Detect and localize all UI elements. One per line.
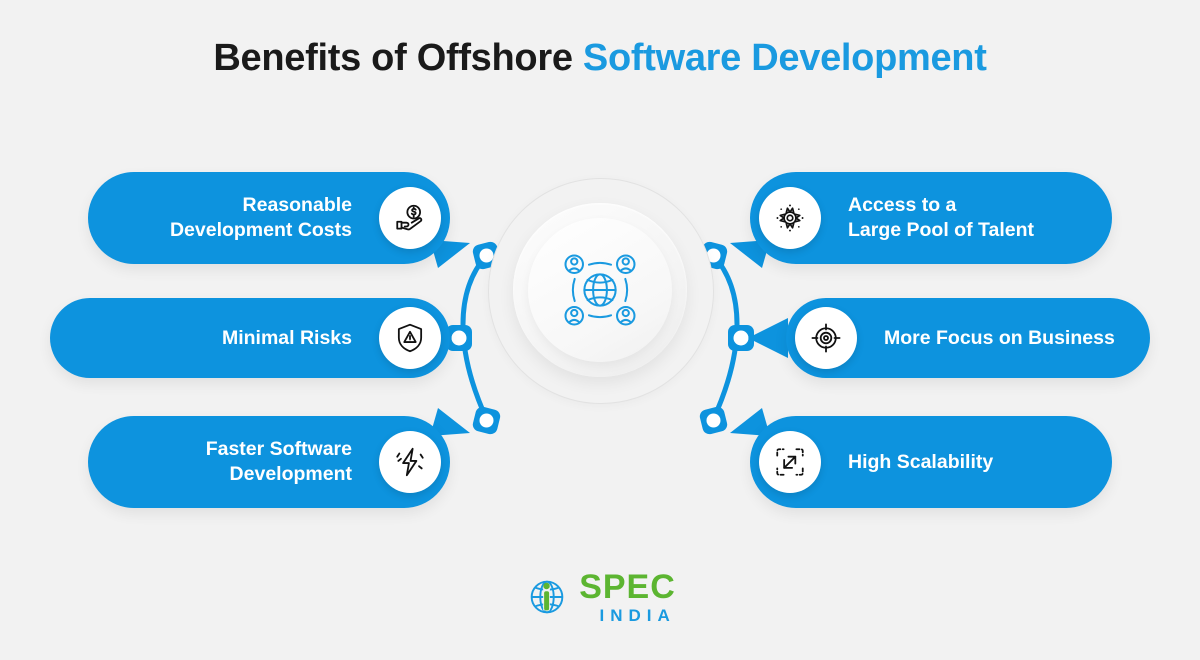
page-title-lead: Benefits of Offshore (213, 37, 583, 79)
brand-logo[interactable]: SPEC INDIA (0, 570, 1200, 624)
expand-arrow-icon (759, 431, 821, 493)
right-node-bottom (698, 405, 728, 435)
benefit-pill-high-scalability[interactable]: High Scalability (750, 416, 1112, 508)
benefit-pill-access-to-large-talent-pool[interactable]: Access to a Large Pool of Talent (750, 172, 1112, 264)
logo-secondary-text: INDIA (579, 607, 676, 624)
benefit-label: Access to a Large Pool of Talent (830, 193, 1034, 243)
left-node-bottom (471, 405, 501, 435)
logo-primary-text: SPEC (579, 570, 676, 604)
page-title: Benefits of Offshore Software Developmen… (0, 36, 1200, 82)
right-connector-arc (713, 255, 737, 420)
benefit-label: Faster Software Development (206, 437, 370, 487)
target-crosshair-icon (795, 307, 857, 369)
spec-india-globe-icon (524, 574, 570, 620)
benefit-label: Minimal Risks (222, 326, 370, 351)
page-title-accent: Software Development (583, 37, 987, 79)
benefit-pill-faster-software-development[interactable]: Faster Software Development (88, 416, 450, 508)
left-connector-arc (463, 255, 487, 420)
hand-holding-dollar-icon (379, 187, 441, 249)
logo-wordmark: SPEC INDIA (579, 570, 676, 624)
benefit-label: More Focus on Business (866, 326, 1115, 351)
infographic-canvas: Benefits of Offshore Software Developmen… (0, 0, 1200, 660)
benefit-pill-minimal-risks[interactable]: Minimal Risks (50, 298, 450, 378)
lightning-bolt-icon (379, 431, 441, 493)
tail-right-middle (748, 318, 788, 358)
benefit-label: Reasonable Development Costs (170, 193, 370, 243)
benefit-pill-reasonable-development-costs[interactable]: Reasonable Development Costs (88, 172, 450, 264)
sunburst-network-icon (759, 187, 821, 249)
global-team-network-icon (554, 244, 646, 336)
benefit-label: High Scalability (830, 450, 993, 475)
shield-warning-icon (379, 307, 441, 369)
right-node-middle (728, 325, 754, 351)
hub-inner-disc (528, 218, 672, 362)
benefit-pill-more-focus-on-business[interactable]: More Focus on Business (786, 298, 1150, 378)
